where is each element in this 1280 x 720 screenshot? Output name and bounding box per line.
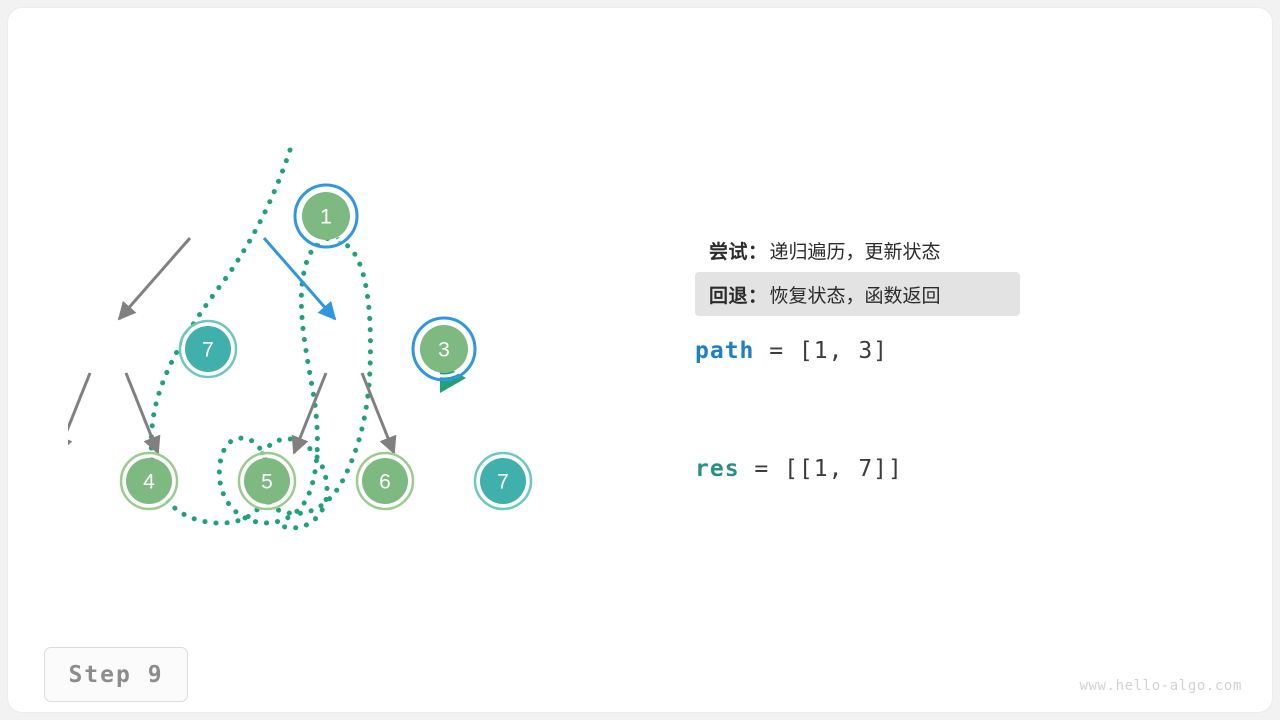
tree-node-4[interactable]: 4 [121,453,177,509]
watermark: www.hello-algo.com [1079,678,1242,694]
edge-3-to-6 [294,373,326,453]
edge-7-to-4 [68,373,90,453]
res-state-line: res = [[1, 7]] [695,446,1115,492]
legend-backtrack-label: 回退： [709,281,768,308]
tree-node-3[interactable]: 3 [413,318,475,380]
tree-node-6[interactable]: 6 [357,453,413,509]
legend-backtrack-text: 恢复状态，函数返回 [770,281,941,308]
res-variable-name: res [695,456,740,482]
node-5-label: 5 [261,471,273,494]
node-4-label: 4 [143,471,155,494]
node-1-label: 1 [320,206,332,229]
edge-1-to-7 [119,238,190,319]
step-badge: Step 9 [44,647,188,702]
legend-try-label: 尝试： [709,237,768,264]
res-variable-value: = [[1, 7]] [740,456,903,482]
canvas-card: 1 7 3 4 5 [8,8,1272,712]
legend-row-backtrack: 回退： 恢复状态，函数返回 [695,272,1020,316]
path-variable-value: = [1, 3] [754,338,888,364]
node-7r-label: 7 [497,471,509,494]
tree-node-1[interactable]: 1 [295,185,357,247]
node-6-label: 6 [379,471,391,494]
legend-row-try: 尝试： 递归遍历，更新状态 [695,228,1020,272]
legend-try-text: 递归遍历，更新状态 [770,237,941,264]
annotation-panel: 尝试： 递归遍历，更新状态 回退： 恢复状态，函数返回 path = [1, 3… [695,228,1115,492]
node-3-label: 3 [438,339,450,362]
path-variable-name: path [695,338,754,364]
tree-node-7-right[interactable]: 7 [475,453,531,509]
path-state-line: path = [1, 3] [695,328,1115,374]
edge-3-to-7r [362,373,394,453]
tree-node-5[interactable]: 5 [239,453,295,509]
tree-node-7-left[interactable]: 7 [180,321,236,377]
binary-tree-diagram: 1 7 3 4 5 [68,128,628,558]
node-7l-label: 7 [202,339,214,362]
